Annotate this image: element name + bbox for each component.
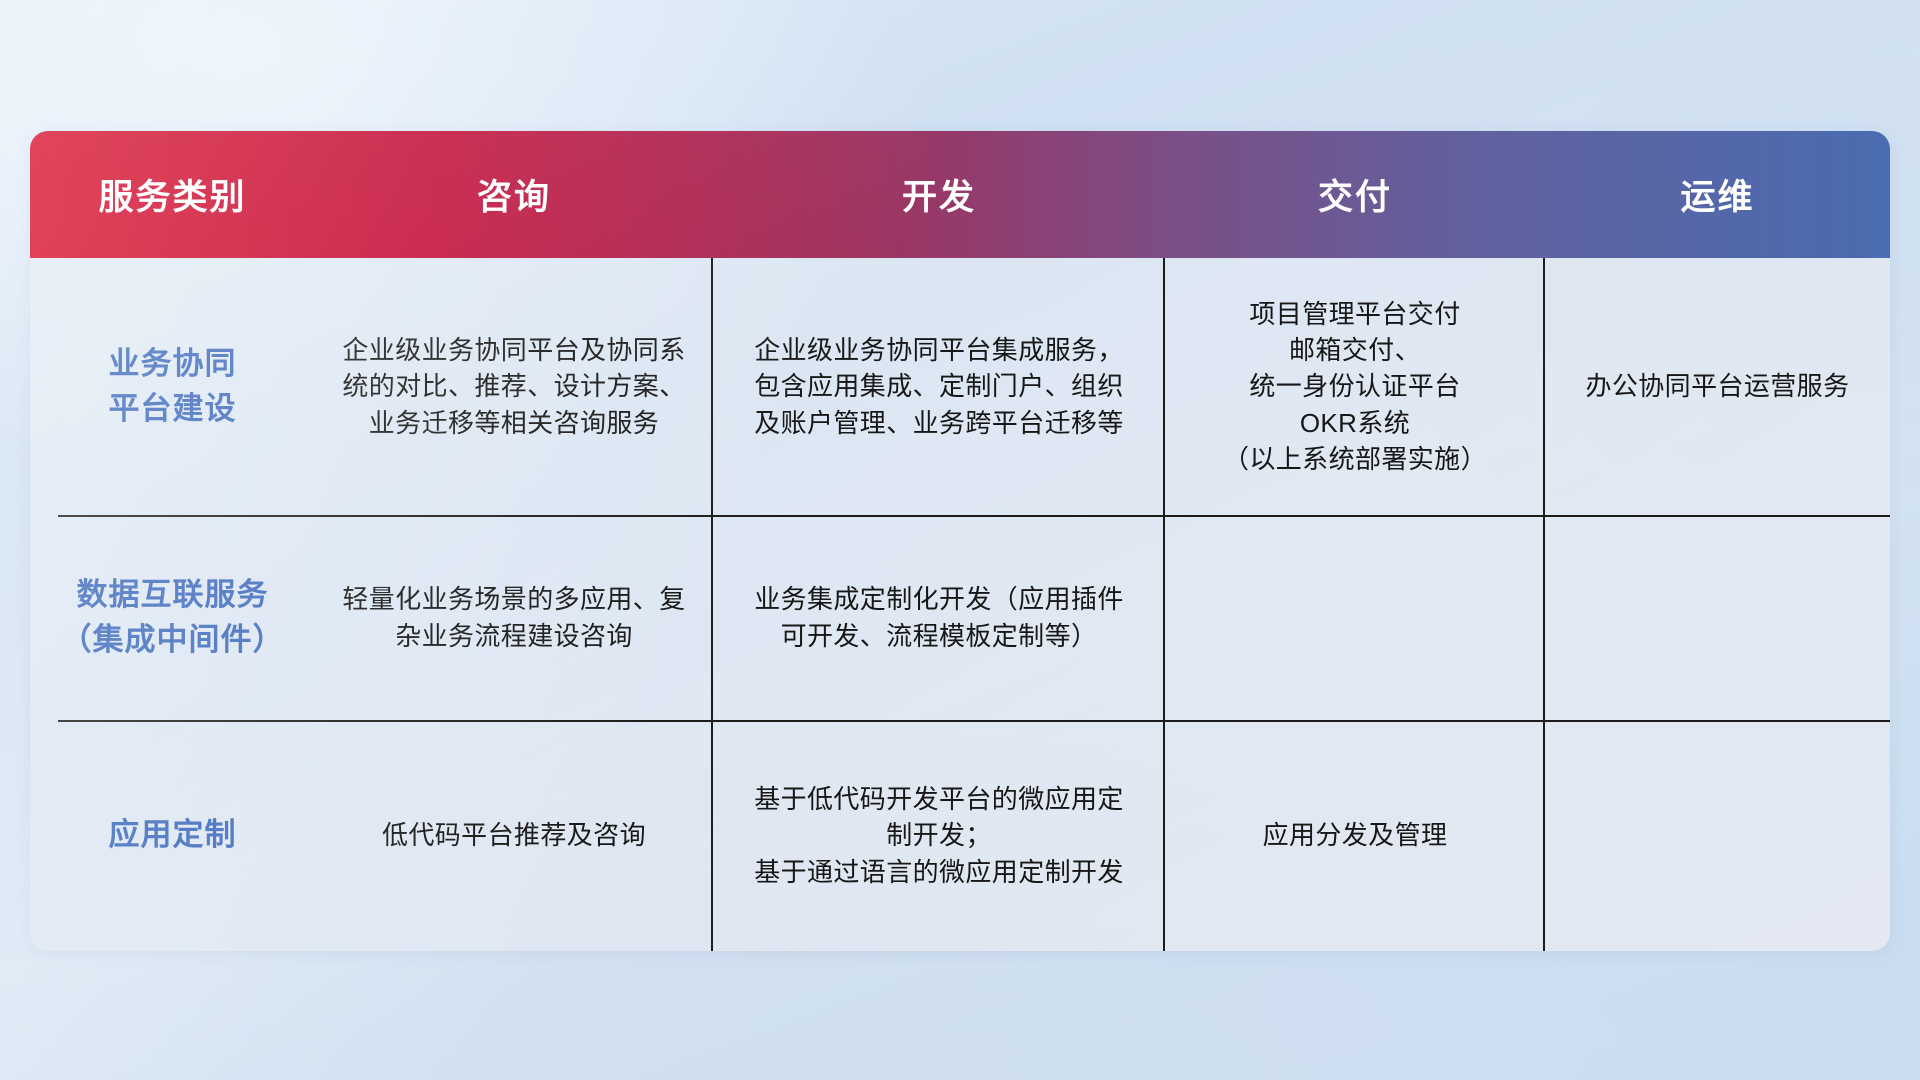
cell-development: 基于低代码开发平台的微应用定 制开发； 基于通过语言的微应用定制开发 xyxy=(713,720,1165,951)
row-category-cell: 应用定制 xyxy=(30,720,315,951)
table-row: 数据互联服务 （集成中间件） 轻量化业务场景的多应用、复 杂业务流程建设咨询 业… xyxy=(30,515,1890,720)
row-category-cell: 数据互联服务 （集成中间件） xyxy=(30,515,315,720)
table-row: 业务协同 平台建设 企业级业务协同平台及协同系 统的对比、推荐、设计方案、 业务… xyxy=(30,258,1890,515)
cell-operations xyxy=(1545,515,1890,720)
header-delivery: 交付 xyxy=(1165,169,1545,220)
table-row: 应用定制 低代码平台推荐及咨询 基于低代码开发平台的微应用定 制开发； 基于通过… xyxy=(30,720,1890,951)
category-label: 数据互联服务 （集成中间件） xyxy=(61,573,285,661)
category-label: 业务协同 平台建设 xyxy=(109,342,237,430)
cell-text: 业务集成定制化开发（应用插件 可开发、流程模板定制等） xyxy=(754,581,1124,654)
cell-text: 企业级业务协同平台及协同系 统的对比、推荐、设计方案、 业务迁移等相关咨询服务 xyxy=(342,332,685,441)
cell-consulting: 企业级业务协同平台及协同系 统的对比、推荐、设计方案、 业务迁移等相关咨询服务 xyxy=(315,258,713,515)
cell-text: 项目管理平台交付 邮箱交付、 统一身份认证平台 OKR系统 （以上系统部署实施） xyxy=(1223,296,1487,478)
cell-text: 轻量化业务场景的多应用、复 杂业务流程建设咨询 xyxy=(342,581,685,654)
cell-delivery: 项目管理平台交付 邮箱交付、 统一身份认证平台 OKR系统 （以上系统部署实施） xyxy=(1165,258,1545,515)
row-category-cell: 业务协同 平台建设 xyxy=(30,258,315,515)
cell-development: 企业级业务协同平台集成服务， 包含应用集成、定制门户、组织 及账户管理、业务跨平… xyxy=(713,258,1165,515)
cell-operations: 办公协同平台运营服务 xyxy=(1545,258,1890,515)
table-header-row: 服务类别 咨询 开发 交付 运维 xyxy=(30,131,1890,258)
cell-delivery: 应用分发及管理 xyxy=(1165,720,1545,951)
cell-text: 办公协同平台运营服务 xyxy=(1585,368,1849,404)
header-consulting: 咨询 xyxy=(315,169,713,220)
cell-text: 基于低代码开发平台的微应用定 制开发； 基于通过语言的微应用定制开发 xyxy=(754,781,1124,890)
category-label: 应用定制 xyxy=(109,813,237,857)
cell-development: 业务集成定制化开发（应用插件 可开发、流程模板定制等） xyxy=(713,515,1165,720)
header-service-category: 服务类别 xyxy=(30,169,315,220)
header-development: 开发 xyxy=(713,169,1165,220)
cell-text: 应用分发及管理 xyxy=(1263,817,1448,853)
cell-delivery xyxy=(1165,515,1545,720)
cell-consulting: 低代码平台推荐及咨询 xyxy=(315,720,713,951)
slide-canvas: 业务协同 平台建设 企业级业务协同平台及协同系 统的对比、推荐、设计方案、 业务… xyxy=(0,0,1920,1080)
table-body: 业务协同 平台建设 企业级业务协同平台及协同系 统的对比、推荐、设计方案、 业务… xyxy=(30,258,1890,951)
cell-text: 企业级业务协同平台集成服务， 包含应用集成、定制门户、组织 及账户管理、业务跨平… xyxy=(754,332,1124,441)
cell-text: 低代码平台推荐及咨询 xyxy=(382,817,646,853)
cell-operations xyxy=(1545,720,1890,951)
header-operations: 运维 xyxy=(1545,169,1890,220)
cell-consulting: 轻量化业务场景的多应用、复 杂业务流程建设咨询 xyxy=(315,515,713,720)
